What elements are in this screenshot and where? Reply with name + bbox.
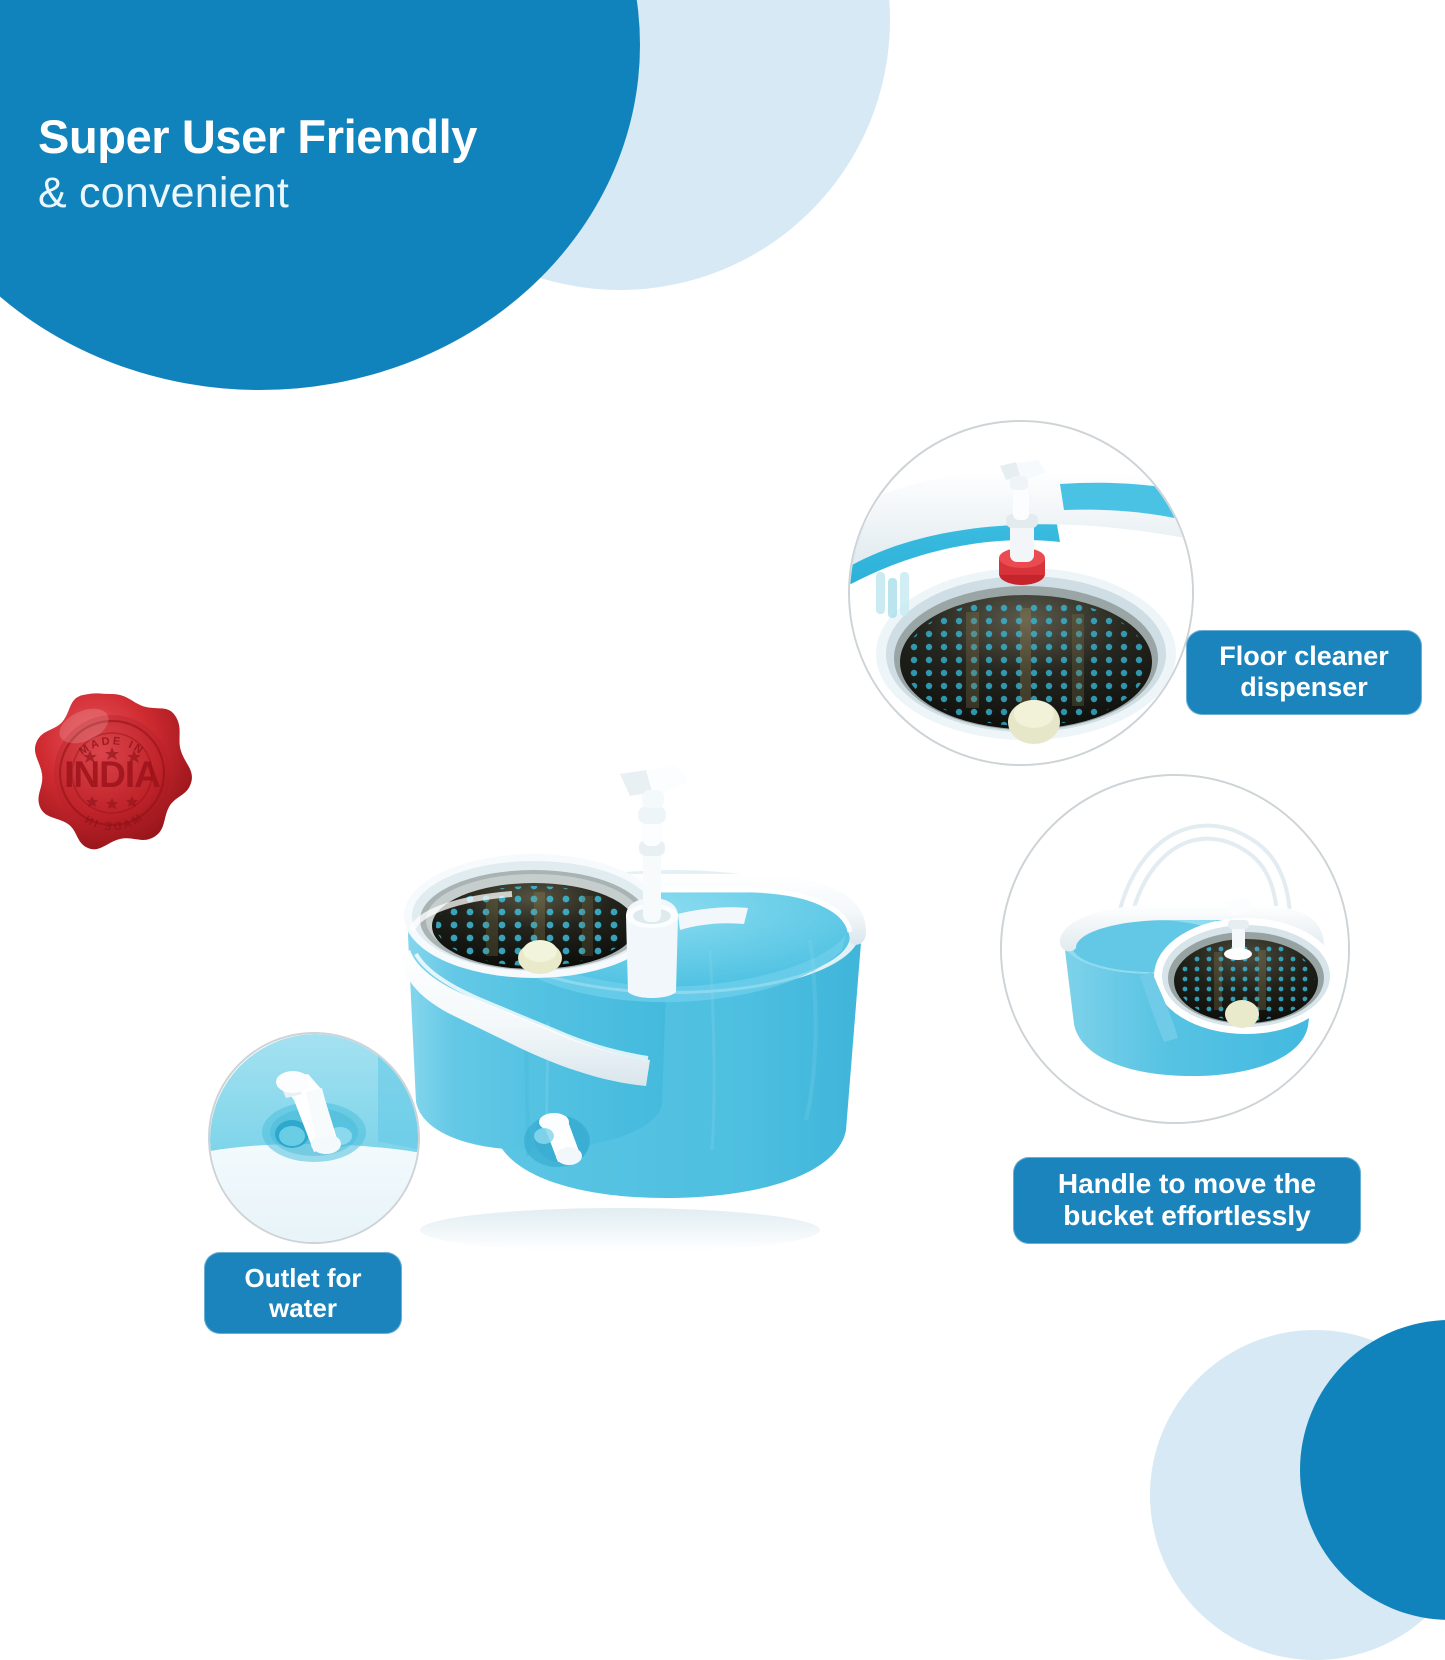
made-in-india-seal: MADE IN INDIA MADE IN bbox=[32, 688, 192, 860]
callout-outlet bbox=[208, 1032, 420, 1244]
callout-label-outlet-line1: Outlet for bbox=[222, 1263, 384, 1293]
dispenser-closeup-image bbox=[850, 422, 1194, 766]
headline-primary: Super User Friendly bbox=[38, 112, 638, 163]
callout-label-handle: Handle to move the bucket effortlessly bbox=[1013, 1157, 1361, 1244]
callout-label-dispenser-line1: Floor cleaner bbox=[1204, 641, 1404, 672]
callout-handle bbox=[1000, 774, 1350, 1124]
seal-center-text: INDIA bbox=[64, 754, 160, 795]
wax-seal-icon: MADE IN INDIA MADE IN bbox=[32, 688, 192, 860]
callout-label-outlet: Outlet for water bbox=[204, 1252, 402, 1334]
callout-label-dispenser-line2: dispenser bbox=[1204, 672, 1404, 703]
headline-block: Super User Friendly & convenient bbox=[38, 112, 638, 219]
callout-label-dispenser: Floor cleaner dispenser bbox=[1186, 630, 1422, 715]
callout-label-handle-line2: bucket effortlessly bbox=[1031, 1200, 1343, 1232]
callout-dispenser bbox=[848, 420, 1194, 766]
handle-closeup-image bbox=[1002, 776, 1350, 1124]
callout-label-outlet-line2: water bbox=[222, 1293, 384, 1323]
outlet-closeup-image bbox=[210, 1034, 420, 1244]
headline-secondary: & convenient bbox=[38, 167, 638, 219]
callout-label-handle-line1: Handle to move the bbox=[1031, 1168, 1343, 1200]
